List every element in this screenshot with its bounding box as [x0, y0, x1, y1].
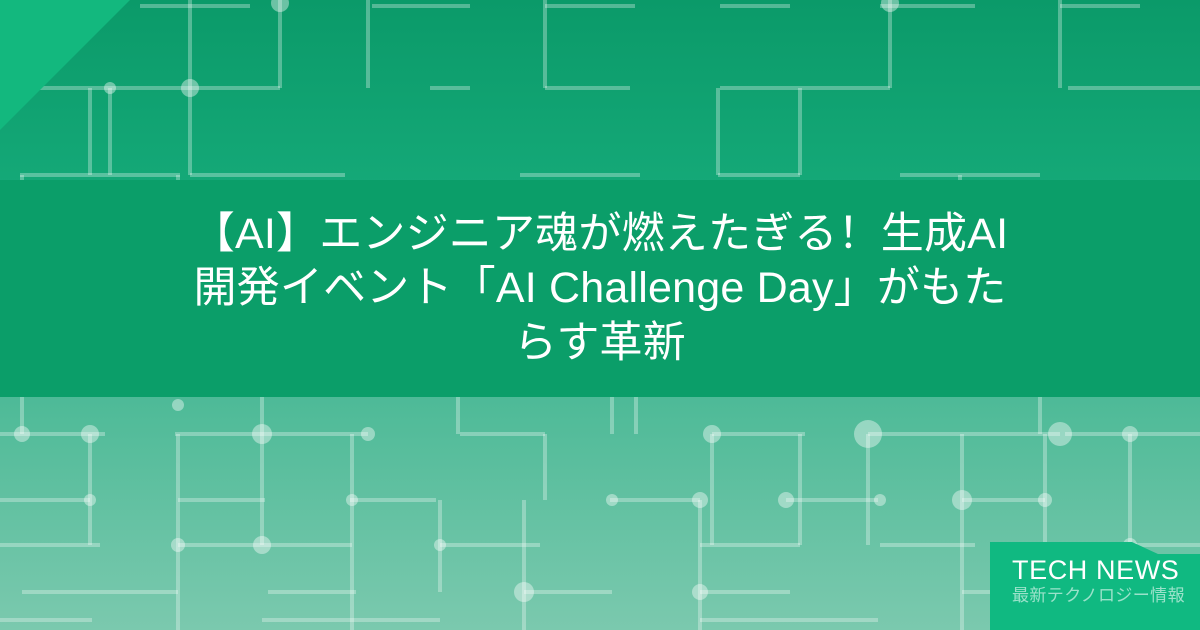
corner-accent-triangle	[0, 0, 130, 130]
page-title-container: 【AI】エンジニア魂が燃えたぎる！生成AI開発イベント「AI Challenge…	[0, 180, 1200, 397]
badge-title: TECH NEWS	[1012, 556, 1200, 584]
hero-banner: 【AI】エンジニア魂が燃えたぎる！生成AI開発イベント「AI Challenge…	[0, 0, 1200, 630]
page-title: 【AI】エンジニア魂が燃えたぎる！生成AI開発イベント「AI Challenge…	[185, 207, 1015, 370]
badge-subtitle: 最新テクノロジー情報	[1012, 586, 1200, 606]
tech-news-badge: TECH NEWS 最新テクノロジー情報	[990, 542, 1200, 630]
